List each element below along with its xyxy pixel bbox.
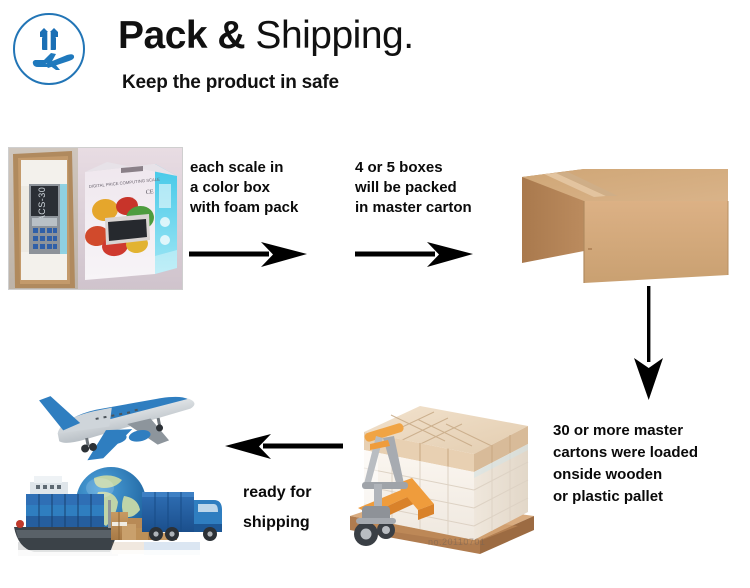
arrow-left-1 bbox=[223, 432, 343, 462]
master-carton-illustration bbox=[512, 163, 740, 288]
caption-boxes-packed: 4 or 5 boxes will be packed in master ca… bbox=[355, 158, 472, 218]
arrow-right-1 bbox=[189, 240, 309, 270]
page-subtitle: Keep the product in safe bbox=[122, 72, 339, 94]
caption-each-scale: each scale in a color box with foam pack bbox=[190, 158, 298, 218]
brand-logo-badge bbox=[13, 13, 85, 85]
arrow-right-2 bbox=[355, 240, 475, 270]
global-logistics-photo bbox=[12, 392, 224, 560]
package-in-hand-plane-icon bbox=[33, 28, 74, 70]
arrow-down-1 bbox=[628, 286, 670, 402]
title-bold-part: Pack & bbox=[118, 14, 245, 57]
pack-and-shipping-infographic: Pack & Shipping. Keep the product in saf… bbox=[0, 0, 750, 588]
caption-ready-for-shipping: ready for shipping bbox=[243, 478, 311, 538]
title-light-part: Shipping. bbox=[245, 14, 413, 57]
svg-text:CE: CE bbox=[146, 189, 155, 196]
product-in-color-box-photo: ACS-30 DIGITAL PRICE COMPUTING SCALE bbox=[8, 147, 183, 290]
caption-cartons-loaded: 30 or more master cartons were loaded on… bbox=[553, 420, 698, 508]
svg-text:ACS-30: ACS-30 bbox=[37, 187, 47, 222]
image-watermark: no.20110701 bbox=[428, 537, 485, 547]
page-title: Pack & Shipping. bbox=[118, 16, 414, 55]
